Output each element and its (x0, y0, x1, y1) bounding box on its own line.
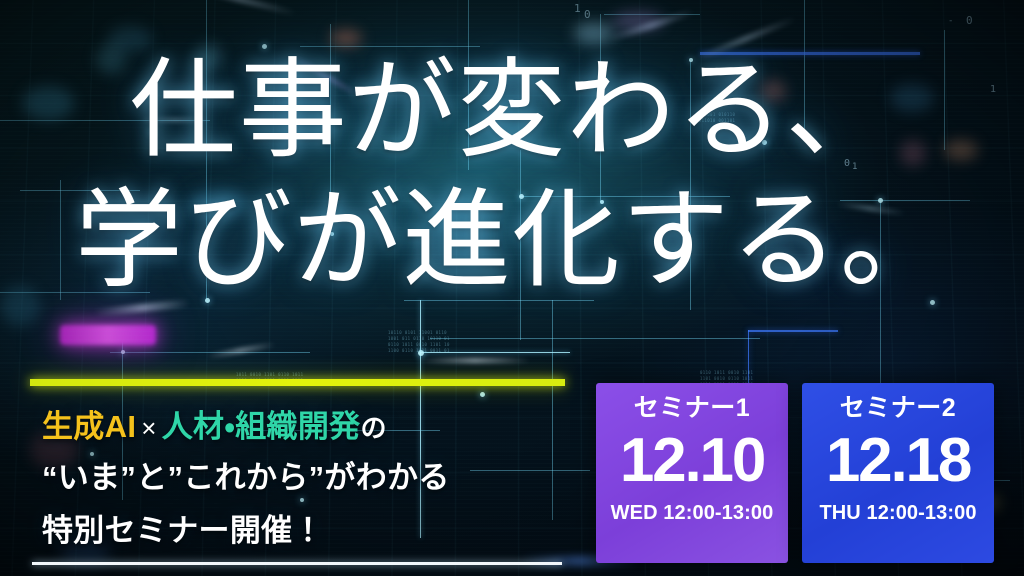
subtitle-particle-no: の (360, 413, 386, 443)
yellow-accent-bar (30, 379, 565, 386)
seminar-2-date: 12.18 (802, 430, 994, 492)
subtitle-hr-development: 人材・組織開発 (162, 409, 361, 444)
subtitle-line-1: 生成AI×人材・組織開発の (42, 401, 387, 446)
seminar-1-time: WED 12:00-13:00 (596, 503, 788, 523)
subtitle-multiply-symbol: × (136, 413, 162, 443)
bottom-divider (32, 562, 562, 565)
subtitle-line-3: 特別セミナー開催！ (42, 505, 324, 550)
seminar-card-2[interactable]: セミナー2 12.18 THU 12:00-13:00 (802, 383, 994, 563)
subtitle-line-2: “いま”と”これから”がわかる (42, 452, 450, 497)
seminar-card-1[interactable]: セミナー1 12.10 WED 12:00-13:00 (596, 383, 788, 563)
headline-line-1: 仕事が変わる、 (0, 58, 1024, 166)
headline-line-2: 学びが進化する。 (0, 188, 1024, 296)
seminar-2-time: THU 12:00-13:00 (802, 503, 994, 523)
seminar-1-label: セミナー1 (596, 396, 788, 421)
seminar-1-date: 12.10 (596, 430, 788, 492)
seminar-banner: 10110 0101 11001 0110 1001 011 0110 1011… (0, 0, 1024, 576)
subtitle-generative-ai: 生成AI (42, 409, 136, 444)
seminar-2-label: セミナー2 (802, 396, 994, 421)
